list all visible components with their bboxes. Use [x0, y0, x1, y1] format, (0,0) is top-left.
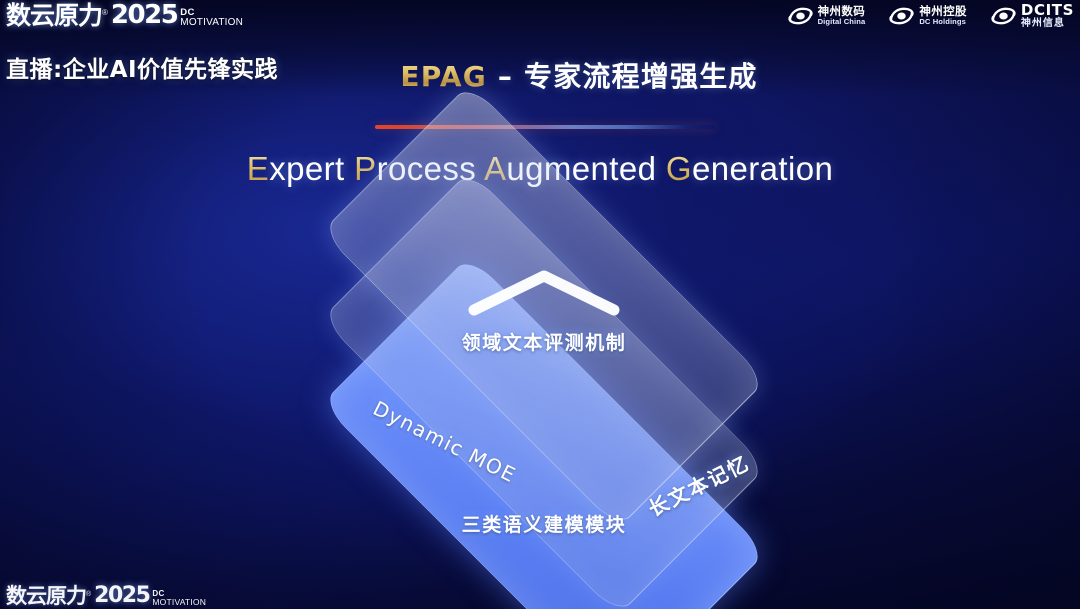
watermark-motivation: MOTIVATION — [152, 598, 206, 606]
watermark-year: 2025 — [94, 585, 149, 607]
slide-stage: 数云原力 ® 2025 DC MOTIVATION 直播:企业AI价值先锋实践 … — [0, 0, 1080, 609]
footer-watermark-logo: 数云原力 ® 2025 DC MOTIVATION — [6, 2, 1074, 607]
watermark-dc-motivation: DC MOTIVATION — [152, 590, 206, 606]
watermark-cn: 数云原力 — [6, 586, 86, 607]
watermark-registered: ® — [86, 591, 91, 598]
